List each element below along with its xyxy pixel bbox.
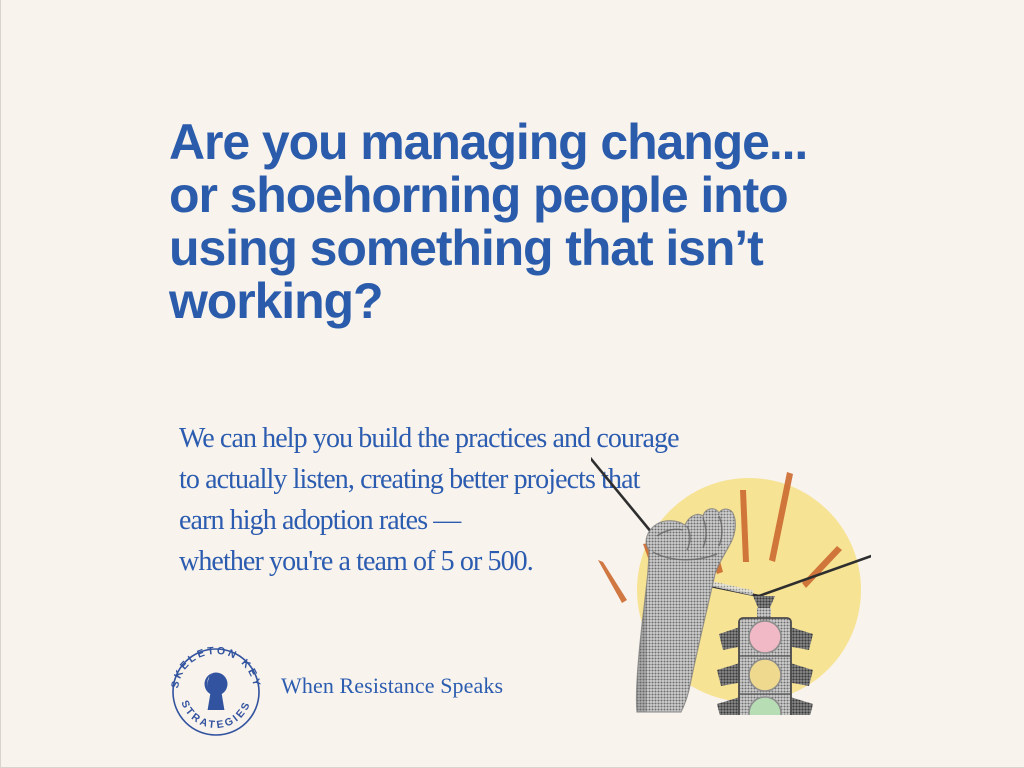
keyhole-icon	[205, 672, 228, 710]
traffic-light-lens-red	[749, 621, 781, 653]
collage-illustration	[591, 450, 871, 715]
page-title: Are you managing change... or shoehornin…	[169, 116, 869, 328]
slide-canvas: Are you managing change... or shoehornin…	[0, 0, 1024, 768]
tagline-text: When Resistance Speaks	[281, 673, 503, 699]
brand-logo: SKELETON KEY STRATEGIES	[164, 640, 268, 744]
traffic-light-lens-yellow	[749, 659, 781, 691]
